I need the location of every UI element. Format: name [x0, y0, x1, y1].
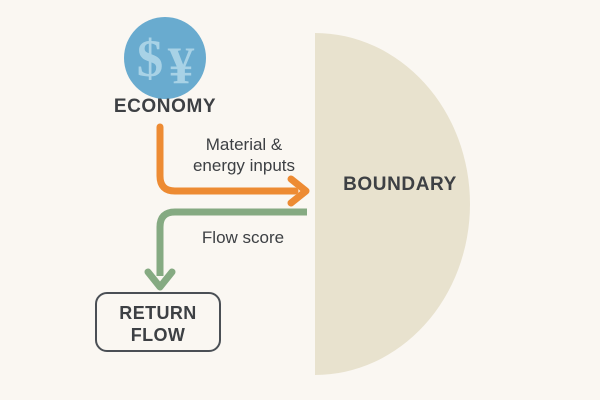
- flow-score-label: Flow score: [180, 228, 306, 249]
- diagram-root: $ ¥ ECONOMY BOUNDARY Material & energy i…: [0, 0, 600, 400]
- dollar-sign-icon: $: [137, 30, 164, 88]
- diagram-canvas: $ ¥: [0, 0, 600, 400]
- return-flow-label: RETURN FLOW: [96, 303, 220, 347]
- material-energy-inputs-label: Material & energy inputs: [178, 135, 310, 176]
- economy-label: ECONOMY: [0, 95, 330, 118]
- yen-sign-icon: ¥: [168, 37, 195, 95]
- boundary-semicircle: [315, 33, 470, 375]
- boundary-label: BOUNDARY: [330, 173, 470, 196]
